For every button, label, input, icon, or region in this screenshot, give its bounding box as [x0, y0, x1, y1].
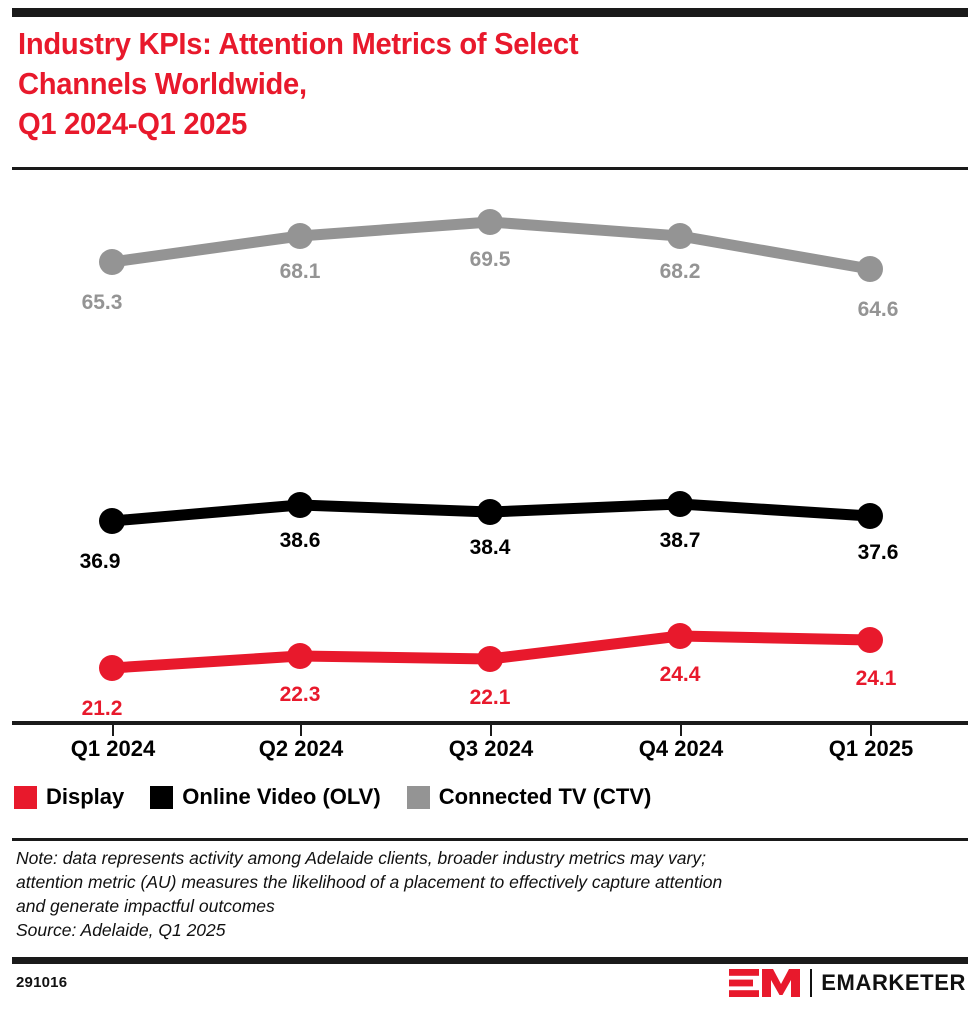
data-point-olv-q4-2024	[667, 491, 693, 517]
x-axis-label-q4-2024: Q4 2024	[591, 736, 771, 762]
data-point-ctv-q4-2024	[667, 223, 693, 249]
logo-wordmark: EMARKETER	[821, 970, 966, 996]
chart-note: Note: data represents activity among Ade…	[16, 846, 966, 918]
data-point-display-q1-2024	[99, 655, 125, 681]
x-axis-labels: Q1 2024 Q2 2024 Q3 2024 Q4 2024 Q1 2025	[0, 736, 980, 768]
series-display: 21.2 22.3 22.1 24.4 24.1	[82, 623, 897, 720]
legend-label-display: Display	[46, 784, 124, 810]
data-label-display-q1-2024: 21.2	[82, 697, 123, 720]
data-label-display-q3-2024: 22.1	[470, 686, 511, 709]
chart-svg: 65.3 68.1 69.5 68.2 64.6 36.9 38.6 38.4 …	[0, 170, 980, 735]
data-point-ctv-q1-2025	[857, 256, 883, 282]
data-point-olv-q2-2024	[287, 492, 313, 518]
data-point-olv-q1-2024	[99, 508, 125, 534]
data-point-ctv-q2-2024	[287, 223, 313, 249]
data-point-display-q2-2024	[287, 643, 313, 669]
legend-swatch-connected-tv-icon	[407, 786, 430, 809]
emarketer-logo[interactable]: EMARKETER	[729, 968, 966, 998]
data-point-ctv-q1-2024	[99, 249, 125, 275]
x-axis-label-q3-2024: Q3 2024	[401, 736, 581, 762]
footer-rule	[12, 957, 968, 964]
data-label-olv-q3-2024: 38.4	[470, 536, 511, 559]
data-label-olv-q1-2024: 36.9	[80, 550, 121, 573]
data-label-ctv-q3-2024: 69.5	[470, 248, 511, 271]
legend-swatch-display-icon	[14, 786, 37, 809]
data-point-olv-q3-2024	[477, 499, 503, 525]
x-axis-tick-q1-2024	[112, 725, 114, 736]
data-label-ctv-q1-2024: 65.3	[82, 291, 123, 314]
series-connected-tv: 65.3 68.1 69.5 68.2 64.6	[82, 209, 899, 321]
x-axis-tick-q2-2024	[300, 725, 302, 736]
series-online-video: 36.9 38.6 38.4 38.7 37.6	[80, 491, 899, 573]
data-label-olv-q1-2025: 37.6	[858, 541, 899, 564]
data-point-display-q1-2025	[857, 627, 883, 653]
data-point-display-q3-2024	[477, 646, 503, 672]
data-label-display-q2-2024: 22.3	[280, 683, 321, 706]
data-point-display-q4-2024	[667, 623, 693, 649]
data-label-display-q4-2024: 24.4	[660, 663, 701, 686]
line-chart-plot: 65.3 68.1 69.5 68.2 64.6 36.9 38.6 38.4 …	[0, 170, 980, 735]
x-axis-tick-q3-2024	[490, 725, 492, 736]
legend-item-connected-tv[interactable]: Connected TV (CTV)	[407, 784, 652, 810]
data-label-olv-q4-2024: 38.7	[660, 529, 701, 552]
top-rule	[12, 8, 968, 17]
logo-divider	[810, 969, 812, 997]
legend-item-display[interactable]: Display	[14, 784, 124, 810]
data-label-ctv-q4-2024: 68.2	[660, 260, 701, 283]
legend-item-online-video[interactable]: Online Video (OLV)	[150, 784, 380, 810]
chart-legend: Display Online Video (OLV) Connected TV …	[14, 784, 651, 810]
legend-label-online-video: Online Video (OLV)	[182, 784, 380, 810]
x-axis-label-q2-2024: Q2 2024	[211, 736, 391, 762]
page-title: Industry KPIs: Attention Metrics of Sele…	[18, 24, 864, 144]
chart-page: Industry KPIs: Attention Metrics of Sele…	[0, 0, 980, 1012]
x-axis-label-q1-2024: Q1 2024	[23, 736, 203, 762]
data-label-display-q1-2025: 24.1	[856, 667, 897, 690]
data-label-ctv-q1-2025: 64.6	[858, 298, 899, 321]
legend-swatch-online-video-icon	[150, 786, 173, 809]
data-label-ctv-q2-2024: 68.1	[280, 260, 321, 283]
note-separator-rule	[12, 838, 968, 841]
data-point-ctv-q3-2024	[477, 209, 503, 235]
data-point-olv-q1-2025	[857, 503, 883, 529]
chart-id: 291016	[16, 974, 67, 991]
x-axis-tick-q4-2024	[680, 725, 682, 736]
legend-label-connected-tv: Connected TV (CTV)	[439, 784, 652, 810]
x-axis-tick-q1-2025	[870, 725, 872, 736]
data-label-olv-q2-2024: 38.6	[280, 529, 321, 552]
x-axis-label-q1-2025: Q1 2025	[781, 736, 961, 762]
em-logo-icon	[729, 968, 801, 998]
chart-source: Source: Adelaide, Q1 2025	[16, 918, 226, 942]
